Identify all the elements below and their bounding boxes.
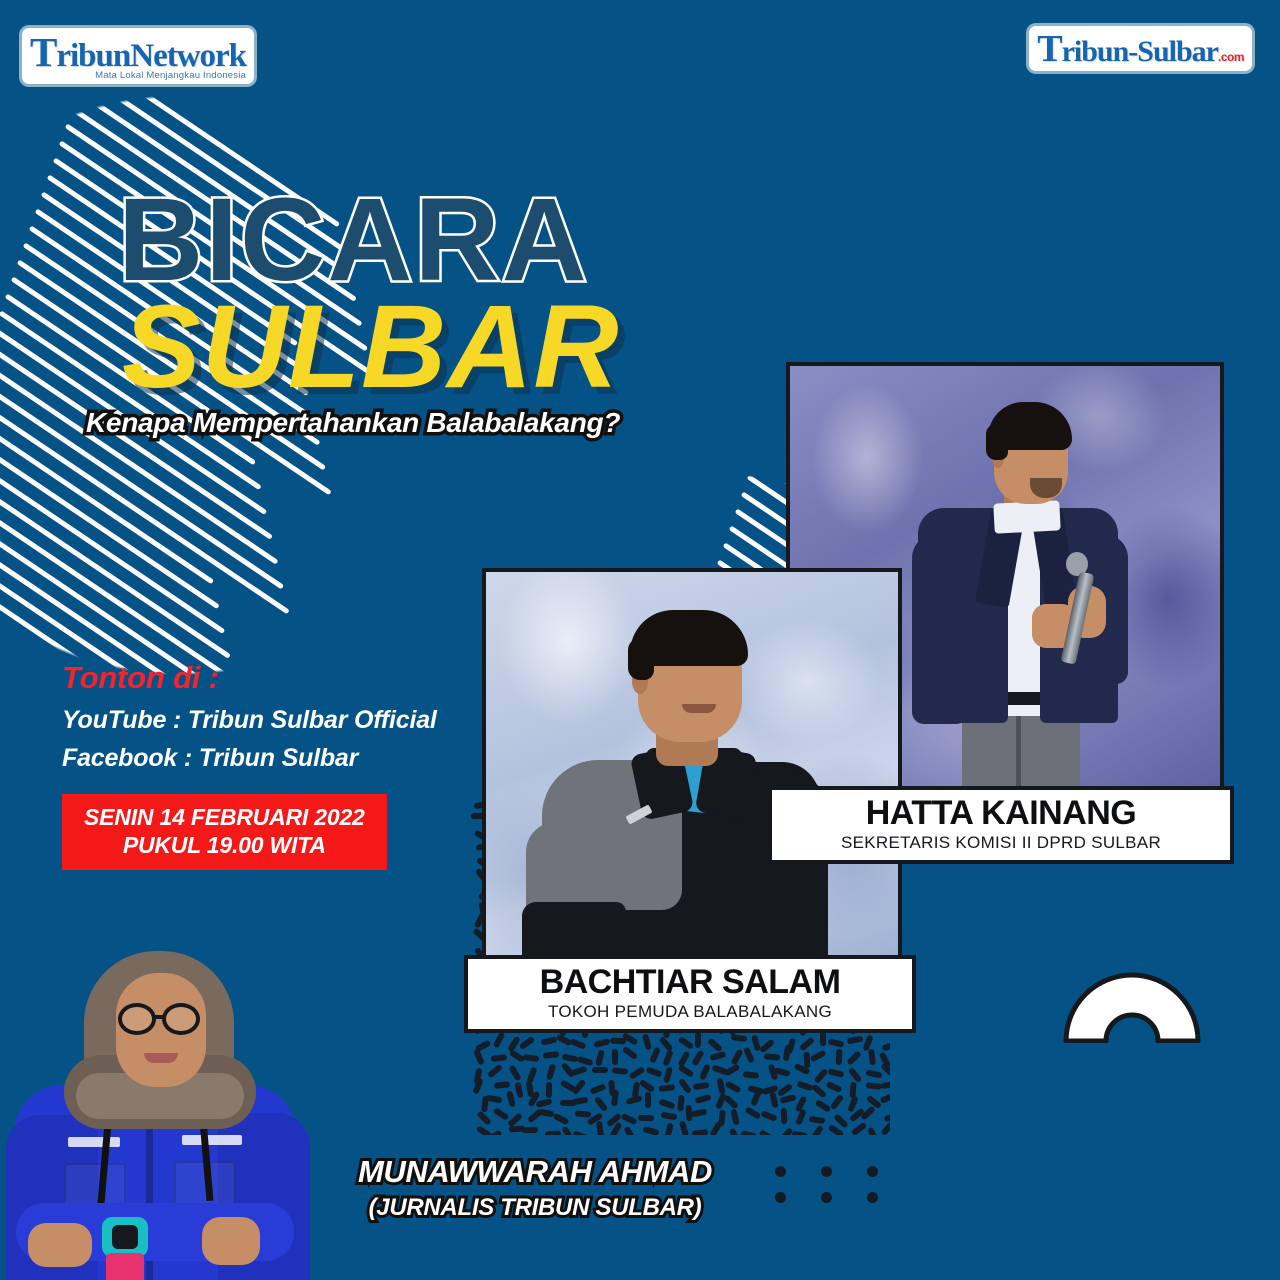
watch-heading: Tonton di : (62, 660, 437, 696)
host-name: MUNAWWARAH AHMAD (300, 1154, 770, 1190)
date-line: SENIN 14 FEBRUARI 2022 (84, 803, 365, 831)
arch-decoration (1062, 965, 1202, 1048)
dot (867, 1166, 878, 1177)
guest-figure (486, 572, 898, 959)
guest-photo-bachtiar (482, 568, 902, 963)
poster-canvas: TribunNetwork Mata Lokal Menjangkau Indo… (0, 0, 1280, 1280)
guest-role: TOKOH PEMUDA BALABALAKANG (482, 1002, 898, 1022)
host-name-block: MUNAWWARAH AHMAD (JURNALIS TRIBUN SULBAR… (300, 1154, 770, 1222)
tribun-sulbar-logo: Tribun-Sulbar.com (1029, 26, 1252, 71)
watch-info-block: Tonton di : YouTube : Tribun Sulbar Offi… (62, 660, 437, 870)
jacket-logo-left (68, 1137, 120, 1147)
arch-icon (1062, 965, 1202, 1043)
youtube-channel: YouTube : Tribun Sulbar Official (62, 706, 437, 735)
title-line-bicara: BICARA (118, 184, 620, 297)
facebook-page: Facebook : Tribun Sulbar (62, 744, 437, 773)
date-time-badge: SENIN 14 FEBRUARI 2022 PUKUL 19.00 WITA (62, 794, 387, 870)
eyeglasses-icon (118, 1003, 156, 1035)
logo-plate: TribunNetwork Mata Lokal Menjangkau Indo… (22, 28, 254, 84)
host-role: (JURNALIS TRIBUN SULBAR) (300, 1194, 770, 1222)
headline-block: BICARA SULBAR Kenapa Mempertahankan Bala… (118, 184, 620, 439)
tribun-network-logo: TribunNetwork Mata Lokal Menjangkau Indo… (22, 28, 254, 84)
jacket-logo-right (182, 1135, 242, 1145)
guest-role: SEKRETARIS KOMISI II DPRD SULBAR (786, 833, 1216, 853)
logo-wordmark: TribunNetwork (30, 32, 246, 73)
guest-name: BACHTIAR SALAM (482, 965, 898, 1001)
name-plate-hatta: HATTA KAINANG SEKRETARIS KOMISI II DPRD … (768, 786, 1234, 864)
dot (775, 1192, 786, 1203)
dot (775, 1166, 786, 1177)
dot-grid-decoration (775, 1166, 913, 1218)
host-photo-munawwarah (6, 945, 306, 1280)
headline-subtitle: Kenapa Mempertahankan Balabalakang? (86, 407, 620, 439)
logo-wordmark: Tribun-Sulbar.com (1037, 30, 1244, 68)
guest-name: HATTA KAINANG (786, 796, 1216, 832)
dot (821, 1166, 832, 1177)
logo-plate: Tribun-Sulbar.com (1029, 26, 1252, 71)
dot (821, 1192, 832, 1203)
time-line: PUKUL 19.00 WITA (84, 831, 365, 859)
name-plate-bachtiar: BACHTIAR SALAM TOKOH PEMUDA BALABALAKANG (464, 955, 916, 1033)
title-line-sulbar: SULBAR (122, 291, 620, 403)
dot (867, 1192, 878, 1203)
